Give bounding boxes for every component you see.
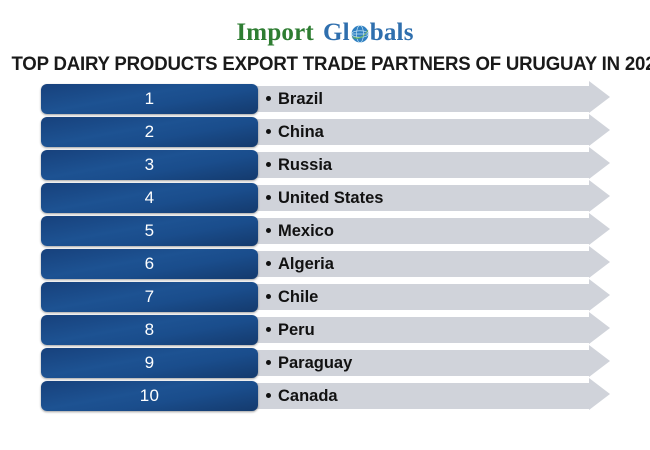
arrow-head-icon	[589, 279, 610, 311]
country-name: Brazil	[278, 90, 323, 108]
country-name: United States	[278, 189, 383, 207]
list-item: Mexico 5	[0, 216, 650, 249]
country-name: Algeria	[278, 255, 334, 273]
arrow-head-icon	[589, 147, 610, 179]
bullet-icon	[266, 393, 271, 398]
country-name: Chile	[278, 288, 318, 306]
arrow-head-icon	[589, 378, 610, 410]
rank-number: 7	[145, 288, 155, 305]
rank-number: 6	[145, 255, 155, 272]
list-item: Paraguay 9	[0, 348, 650, 381]
rank-number: 1	[145, 90, 155, 107]
list-item: Brazil 1	[0, 84, 650, 117]
country-name: Mexico	[278, 222, 334, 240]
rank-number: 4	[145, 189, 155, 206]
bullet-icon	[266, 360, 271, 365]
country-label: Canada	[266, 383, 338, 409]
logo-word-import: Import	[236, 20, 314, 45]
rank-plate: 8	[41, 315, 258, 345]
rank-plate: 4	[41, 183, 258, 213]
rank-number: 5	[145, 222, 155, 239]
list-item: Peru 8	[0, 315, 650, 348]
rank-number: 10	[140, 387, 160, 404]
bullet-icon	[266, 129, 271, 134]
arrow-head-icon	[589, 114, 610, 146]
rank-number: 9	[145, 354, 155, 371]
logo-word-bals: bals	[370, 20, 414, 45]
globe-icon	[350, 24, 370, 44]
page-title: TOP DAIRY PRODUCTS EXPORT TRADE PARTNERS…	[0, 52, 621, 76]
bullet-icon	[266, 195, 271, 200]
arrow-head-icon	[589, 345, 610, 377]
logo-text: Import Gl bals	[236, 20, 413, 45]
rank-number: 2	[145, 123, 155, 140]
arrow-head-icon	[589, 312, 610, 344]
country-label: Russia	[266, 152, 332, 178]
country-label: Chile	[266, 284, 318, 310]
country-name: Paraguay	[278, 354, 352, 372]
bullet-icon	[266, 261, 271, 266]
country-name: Canada	[278, 387, 338, 405]
bullet-icon	[266, 294, 271, 299]
list-item: Canada 10	[0, 381, 650, 414]
arrow-head-icon	[589, 213, 610, 245]
rank-plate: 5	[41, 216, 258, 246]
rank-plate: 3	[41, 150, 258, 180]
bullet-icon	[266, 228, 271, 233]
country-name: Peru	[278, 321, 315, 339]
country-name: Russia	[278, 156, 332, 174]
list-item: China 2	[0, 117, 650, 150]
rank-plate: 9	[41, 348, 258, 378]
country-label: United States	[266, 185, 383, 211]
rank-plate: 7	[41, 282, 258, 312]
country-label: Peru	[266, 317, 315, 343]
rank-plate: 6	[41, 249, 258, 279]
bullet-icon	[266, 96, 271, 101]
rank-number: 3	[145, 156, 155, 173]
country-label: China	[266, 119, 324, 145]
bullet-icon	[266, 162, 271, 167]
bullet-icon	[266, 327, 271, 332]
rank-number: 8	[145, 321, 155, 338]
country-label: Mexico	[266, 218, 334, 244]
list-item: Chile 7	[0, 282, 650, 315]
rank-plate: 1	[41, 84, 258, 114]
list-item: United States 4	[0, 183, 650, 216]
arrow-head-icon	[589, 180, 610, 212]
country-label: Algeria	[266, 251, 334, 277]
logo-word-gl: Gl	[323, 20, 350, 45]
brand-logo: Import Gl bals	[0, 0, 650, 52]
country-label: Paraguay	[266, 350, 352, 376]
list-item: Russia 3	[0, 150, 650, 183]
ranking-list: Brazil 1 China 2 Russia 3 United States …	[0, 84, 650, 414]
arrow-head-icon	[589, 81, 610, 113]
rank-plate: 10	[41, 381, 258, 411]
arrow-head-icon	[589, 246, 610, 278]
rank-plate: 2	[41, 117, 258, 147]
list-item: Algeria 6	[0, 249, 650, 282]
country-label: Brazil	[266, 86, 323, 112]
country-name: China	[278, 123, 324, 141]
